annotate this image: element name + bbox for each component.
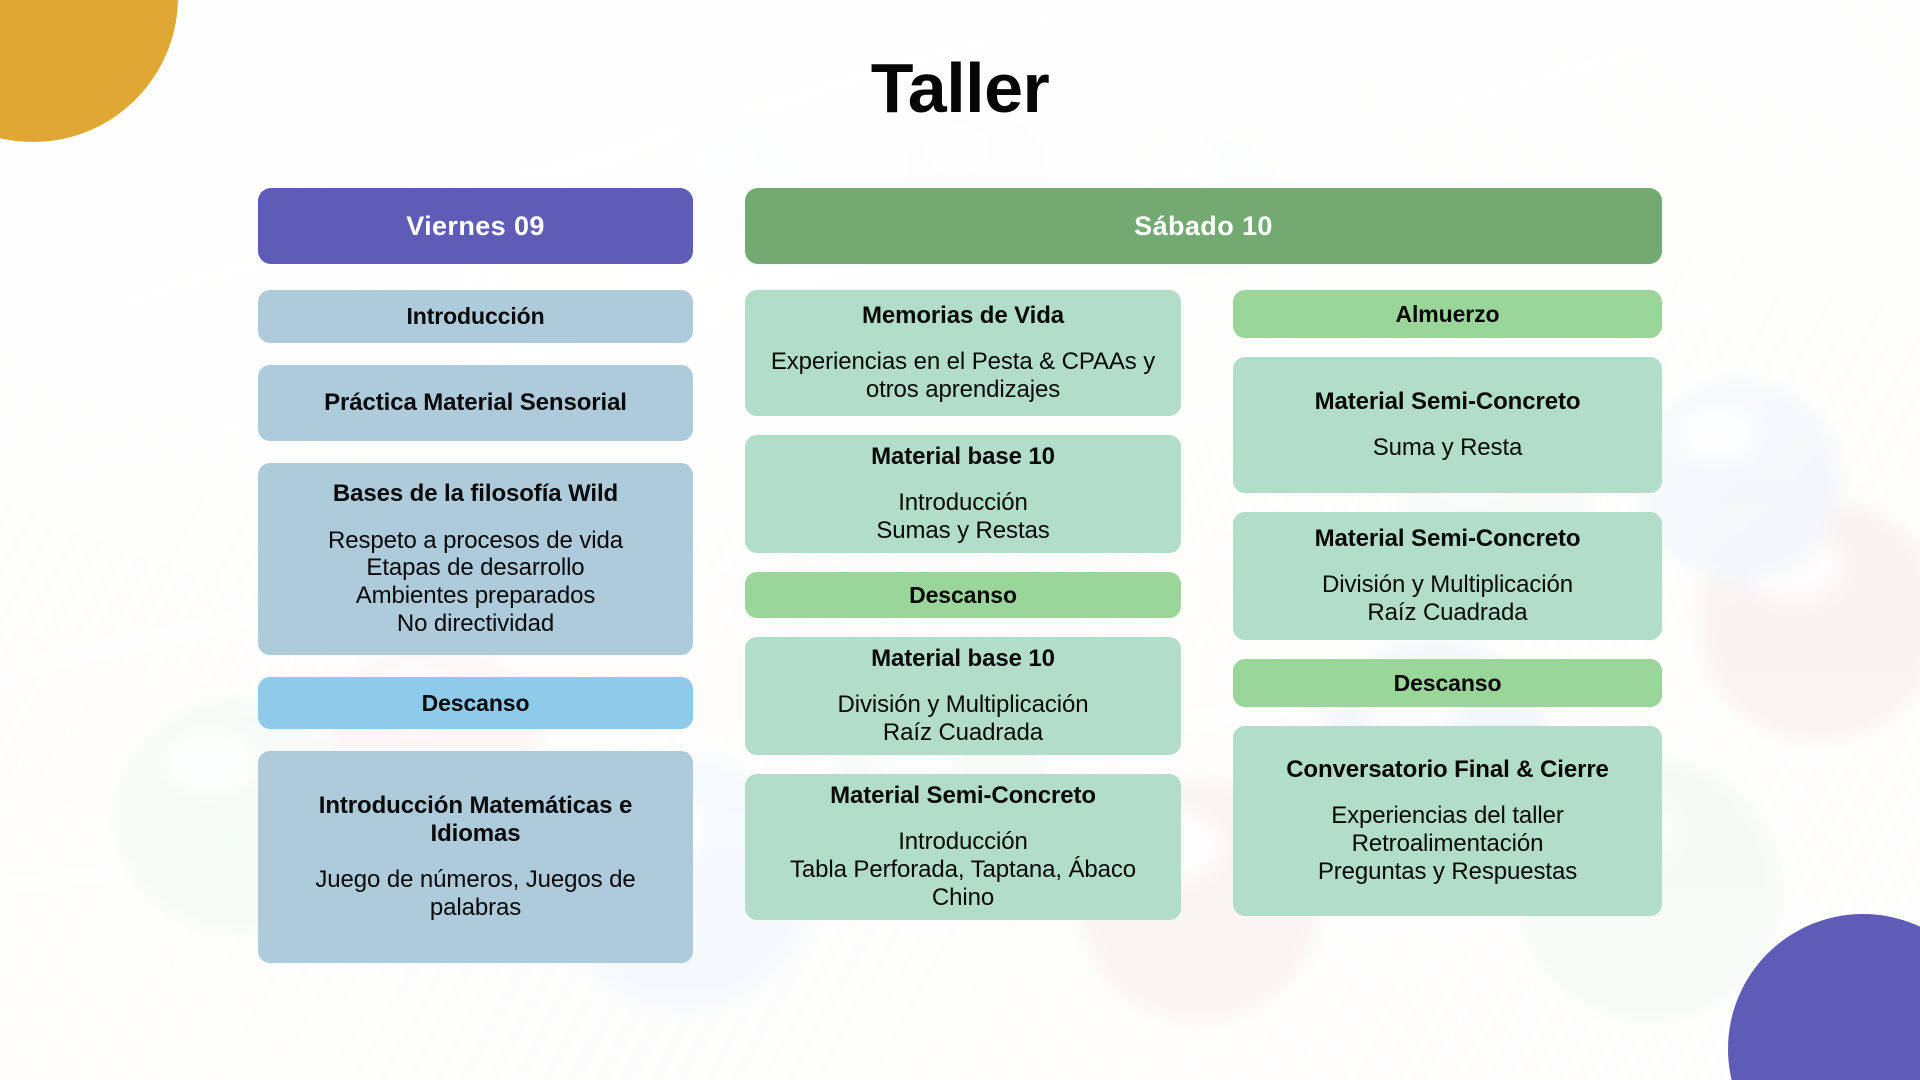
session-card-material-base-10-division[interactable]: Material base 10 División y Multiplicaci… <box>745 637 1181 755</box>
column-friday: Introducción Práctica Material Sensorial… <box>258 290 693 963</box>
schedule-board: Viernes 09 Sábado 10 Introducción Prácti… <box>258 188 1662 963</box>
session-card-material-base-10-sumas[interactable]: Material base 10 Introducción Sumas y Re… <box>745 435 1181 553</box>
session-card-bases-filosofia-wild[interactable]: Bases de la filosofía Wild Respeto a pro… <box>258 463 693 655</box>
session-body: División y Multiplicación Raíz Cuadrada <box>763 691 1163 747</box>
session-title: Introducción <box>406 303 544 329</box>
session-card-descanso-saturday-a[interactable]: Descanso <box>745 572 1181 618</box>
session-title: Práctica Material Sensorial <box>324 389 627 416</box>
session-card-almuerzo[interactable]: Almuerzo <box>1233 290 1662 338</box>
day-headers-row: Viernes 09 Sábado 10 <box>258 188 1662 264</box>
session-title: Descanso <box>909 582 1017 608</box>
session-title: Descanso <box>422 690 530 716</box>
session-body: Experiencias en el Pesta & CPAAs y otros… <box>763 348 1163 404</box>
session-card-descanso-friday[interactable]: Descanso <box>258 677 693 729</box>
session-card-material-semi-concreto-suma-resta[interactable]: Material Semi-Concreto Suma y Resta <box>1233 357 1662 493</box>
session-card-conversatorio-final-cierre[interactable]: Conversatorio Final & Cierre Experiencia… <box>1233 726 1662 916</box>
session-card-material-semi-concreto-introduccion[interactable]: Material Semi-Concreto Introducción Tabl… <box>745 774 1181 920</box>
column-saturday-b: Almuerzo Material Semi-Concreto Suma y R… <box>1233 290 1662 916</box>
session-title: Material Semi-Concreto <box>1251 388 1644 415</box>
slide-canvas: Taller Viernes 09 Sábado 10 Introducción… <box>0 0 1920 1080</box>
session-title: Memorias de Vida <box>763 302 1163 329</box>
session-body: Introducción Tabla Perforada, Taptana, Á… <box>763 828 1163 911</box>
page-title: Taller <box>0 48 1920 128</box>
session-body: Juego de números, Juegos de palabras <box>276 866 675 922</box>
session-body: Respeto a procesos de vida Etapas de des… <box>276 527 675 638</box>
day-header-saturday[interactable]: Sábado 10 <box>745 188 1662 264</box>
session-card-memorias-de-vida[interactable]: Memorias de Vida Experiencias en el Pest… <box>745 290 1181 416</box>
session-title: Material Semi-Concreto <box>1251 525 1644 552</box>
session-title: Almuerzo <box>1396 301 1500 327</box>
session-title: Material base 10 <box>763 645 1163 672</box>
session-body: Introducción Sumas y Restas <box>763 489 1163 545</box>
column-saturday-a: Memorias de Vida Experiencias en el Pest… <box>745 290 1181 920</box>
session-body: Suma y Resta <box>1251 434 1644 462</box>
session-title: Descanso <box>1394 670 1502 696</box>
session-card-introduccion-matematicas-idiomas[interactable]: Introducción Matemáticas e Idiomas Juego… <box>258 751 693 963</box>
session-title: Material base 10 <box>763 443 1163 470</box>
session-title: Introducción Matemáticas e Idiomas <box>276 792 675 847</box>
session-body: Experiencias del taller Retroalimentació… <box>1251 802 1644 885</box>
schedule-columns: Introducción Práctica Material Sensorial… <box>258 290 1662 963</box>
session-body: División y Multiplicación Raíz Cuadrada <box>1251 571 1644 627</box>
session-card-practica-material-sensorial[interactable]: Práctica Material Sensorial <box>258 365 693 441</box>
day-header-friday[interactable]: Viernes 09 <box>258 188 693 264</box>
session-title: Material Semi-Concreto <box>763 782 1163 809</box>
session-card-introduccion[interactable]: Introducción <box>258 290 693 343</box>
session-title: Conversatorio Final & Cierre <box>1251 756 1644 783</box>
session-card-material-semi-concreto-division[interactable]: Material Semi-Concreto División y Multip… <box>1233 512 1662 640</box>
session-card-descanso-saturday-b[interactable]: Descanso <box>1233 659 1662 707</box>
session-title: Bases de la filosofía Wild <box>276 480 675 507</box>
